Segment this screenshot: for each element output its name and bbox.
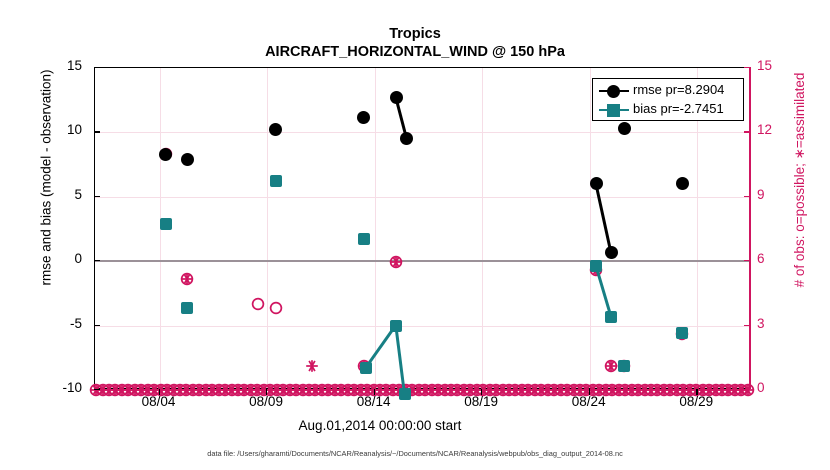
x-axis-tick-label: 08/04 <box>142 394 176 409</box>
gridline-horizontal <box>95 197 749 198</box>
data-point-bias <box>181 302 193 314</box>
chart-legend: rmse pr=8.2904 bias pr=-2.7451 <box>592 78 744 121</box>
gridline-vertical <box>267 68 268 388</box>
obs-marker-assimilated <box>389 255 403 269</box>
data-point-rmse <box>181 153 194 166</box>
x-axis-tick <box>696 389 697 395</box>
data-point-bias <box>676 327 688 339</box>
series-connector <box>595 183 613 252</box>
y-axis-right-tick <box>744 67 750 68</box>
gridline-vertical <box>590 68 591 388</box>
legend-entry-bias: bias pr=-2.7451 <box>593 100 743 120</box>
y-axis-right-tick-label: 6 <box>757 251 765 266</box>
x-axis-tick-label: 08/29 <box>679 394 713 409</box>
y-axis-left-tick-label: -10 <box>62 380 82 395</box>
x-axis-tick <box>159 389 160 395</box>
data-point-rmse <box>590 177 603 190</box>
data-point-bias <box>399 388 411 400</box>
x-axis-tick <box>374 389 375 395</box>
x-axis-tick-label: 08/24 <box>572 394 606 409</box>
gridline-horizontal <box>95 132 749 133</box>
legend-marker-bias <box>607 104 620 117</box>
zero-reference-line <box>95 260 749 262</box>
y-axis-left-tick <box>94 389 100 390</box>
legend-marker-rmse <box>607 85 620 98</box>
y-axis-left-tick <box>94 260 100 261</box>
legend-label-rmse: rmse pr=8.2904 <box>633 82 724 97</box>
obs-marker-assimilated <box>305 359 319 373</box>
obs-marker-assimilated <box>180 272 194 286</box>
legend-label-bias: bias pr=-2.7451 <box>633 101 724 116</box>
y-axis-left-tick-label: 5 <box>74 187 82 202</box>
legend-entry-rmse: rmse pr=8.2904 <box>593 81 743 101</box>
y-axis-right-tick-label: 12 <box>757 122 772 137</box>
x-axis-label: Aug.01,2014 00:00:00 start <box>0 418 760 433</box>
data-point-rmse <box>676 177 689 190</box>
series-connector <box>595 265 613 317</box>
y-axis-right-tick-label: 3 <box>757 316 765 331</box>
data-point-rmse <box>400 132 413 145</box>
y-axis-right-tick <box>744 196 750 197</box>
y-axis-left-tick-label: 10 <box>67 122 82 137</box>
data-point-bias <box>358 233 370 245</box>
y-axis-right-label: # of obs: o=possible; ∗=assimilated <box>792 20 808 340</box>
data-point-bias <box>360 362 372 374</box>
data-point-bias <box>605 311 617 323</box>
gridline-horizontal <box>95 326 749 327</box>
data-point-bias <box>270 175 282 187</box>
data-point-bias <box>618 360 630 372</box>
gridline-vertical <box>375 68 376 388</box>
chart-title: Tropics <box>0 26 830 42</box>
x-axis-tick <box>266 389 267 395</box>
y-axis-right-tick <box>744 260 750 261</box>
data-point-rmse <box>357 111 370 124</box>
y-axis-left-tick-label: -5 <box>70 316 82 331</box>
obs-marker-possible <box>269 301 283 315</box>
chart-subtitle: AIRCRAFT_HORIZONTAL_WIND @ 150 hPa <box>0 44 830 60</box>
obs-marker-possible <box>251 297 265 311</box>
x-axis-tick <box>481 389 482 395</box>
y-axis-right-tick <box>744 389 750 390</box>
data-point-bias <box>160 218 172 230</box>
x-axis-tick <box>589 389 590 395</box>
data-file-note: data file: /Users/gharamti/Documents/NCA… <box>0 449 830 458</box>
data-point-rmse <box>390 91 403 104</box>
y-axis-right-tick <box>744 325 750 326</box>
data-point-rmse <box>605 246 618 259</box>
gridline-vertical <box>482 68 483 388</box>
chart-figure: Tropics AIRCRAFT_HORIZONTAL_WIND @ 150 h… <box>0 0 830 470</box>
y-axis-right-tick-label: 0 <box>757 380 765 395</box>
data-point-rmse <box>269 123 282 136</box>
obs-marker-assimilated <box>604 359 618 373</box>
y-axis-left-tick <box>94 67 100 68</box>
y-axis-right-tick-label: 15 <box>757 58 772 73</box>
data-point-bias <box>390 320 402 332</box>
y-axis-left-tick-label: 0 <box>74 251 82 266</box>
y-axis-left-tick <box>94 325 100 326</box>
y-axis-right-tick-label: 9 <box>757 187 765 202</box>
y-axis-left-tick <box>94 131 100 132</box>
data-point-bias <box>590 260 602 272</box>
y-axis-left-label: rmse and bias (model - observation) <box>39 28 54 328</box>
x-axis-tick-label: 08/09 <box>249 394 283 409</box>
y-axis-right-tick <box>744 131 750 132</box>
y-axis-right-spine <box>749 67 751 389</box>
y-axis-left-tick-label: 15 <box>67 58 82 73</box>
y-axis-left-tick <box>94 196 100 197</box>
x-axis-tick-label: 08/19 <box>464 394 498 409</box>
x-axis-tick-label: 08/14 <box>357 394 391 409</box>
data-point-rmse <box>618 122 631 135</box>
